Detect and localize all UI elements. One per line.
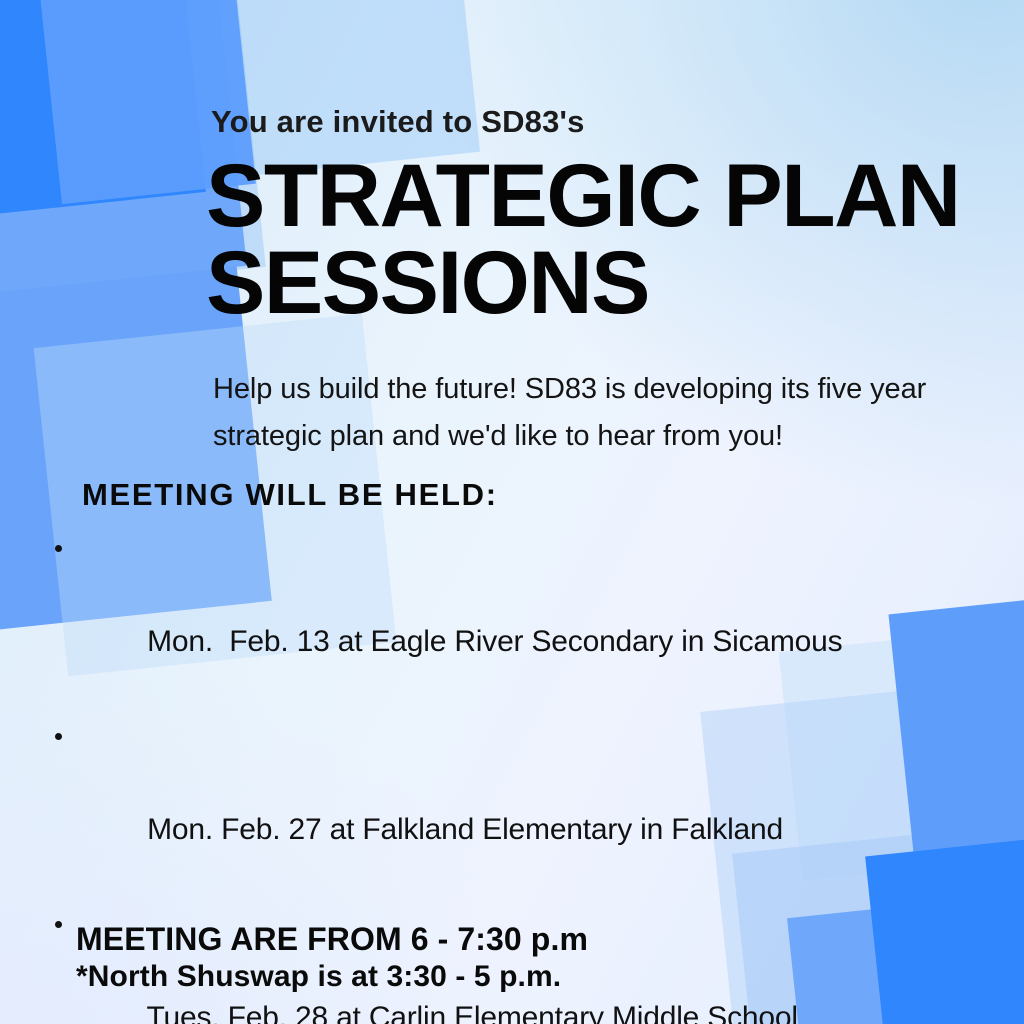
footer-times: MEETING ARE FROM 6 - 7:30 p.m *North Shu…	[76, 920, 588, 996]
list-item: Mon. Feb. 27 at Falkland Elementary in F…	[42, 712, 972, 900]
meeting-text: Tues. Feb. 28 at Carlin Elementary Middl…	[147, 1001, 798, 1024]
headline-line-2: SESSIONS	[206, 239, 1006, 326]
meeting-text: Mon. Feb. 27 at Falkland Elementary in F…	[147, 813, 783, 846]
footer-line-2: *North Shuswap is at 3:30 - 5 p.m.	[76, 958, 588, 996]
section-heading-meetings: MEETING WILL BE HELD:	[82, 477, 498, 513]
bullet-icon	[55, 733, 62, 740]
page-title: STRATEGIC PLAN SESSIONS	[206, 152, 1006, 326]
invitation-eyebrow: You are invited to SD83's	[211, 104, 585, 140]
headline-line-1: STRATEGIC PLAN	[206, 152, 1006, 239]
meeting-text: Mon. Feb. 13 at Eagle River Secondary in…	[147, 625, 842, 658]
poster-content: You are invited to SD83's STRATEGIC PLAN…	[0, 0, 1024, 1024]
poster-canvas: You are invited to SD83's STRATEGIC PLAN…	[0, 0, 1024, 1024]
bullet-icon	[55, 921, 62, 928]
bullet-icon	[55, 545, 62, 552]
footer-line-1: MEETING ARE FROM 6 - 7:30 p.m	[76, 920, 588, 958]
subtitle-text: Help us build the future! SD83 is develo…	[213, 366, 943, 460]
list-item: Mon. Feb. 13 at Eagle River Secondary in…	[42, 524, 972, 712]
